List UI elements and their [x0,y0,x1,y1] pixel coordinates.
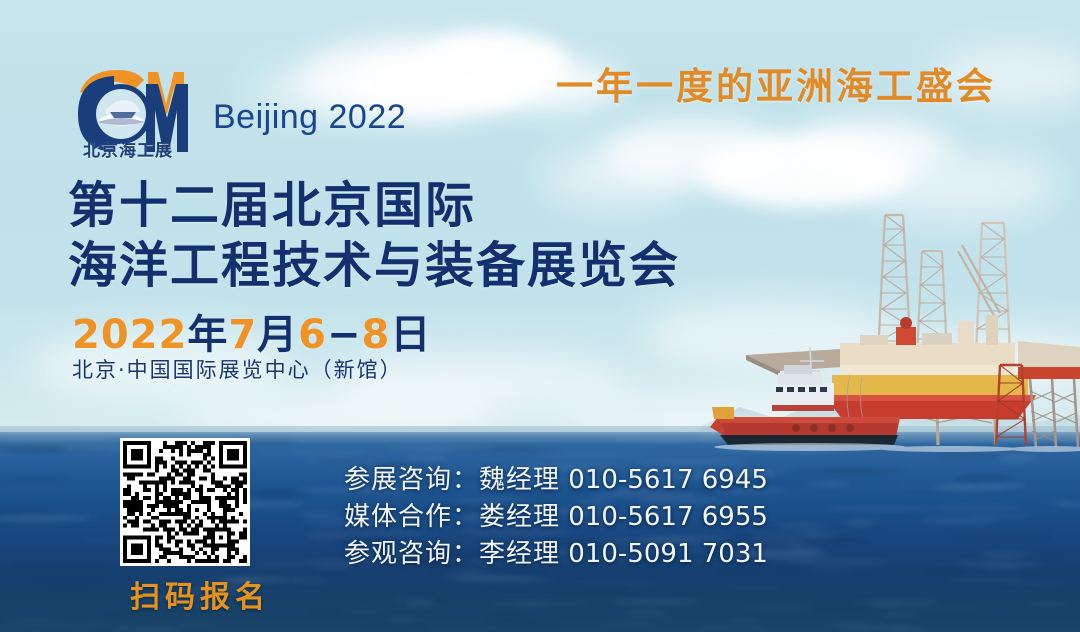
headline-line-2: 海洋工程技术与装备展览会 [68,236,680,296]
wave-streak [249,563,319,566]
wave-streak [849,598,918,602]
contact-row: 参展咨询：魏经理 010-5617 6945 [344,462,768,499]
contact-label: 参展咨询 [344,465,452,495]
date-day-unit: 日 [390,312,431,358]
wave-streak [999,581,1066,584]
wave-streak [27,580,104,586]
headline-line-1: 第十二届北京国际 [68,176,680,236]
contact-label: 媒体合作 [344,502,452,532]
wave-streak [980,551,1031,558]
wave-streak [0,477,71,481]
tagline: 一年一度的亚洲海工盛会 [556,56,996,110]
event-venue: 北京·中国国际展览中心（新馆） [72,354,403,384]
wave-streak [870,602,900,606]
wave-streak [243,490,306,496]
wave-streak [845,519,875,526]
date-dash: − [327,312,362,358]
date-month: 7 [228,312,257,358]
wave-streak [534,454,649,458]
wave-streak [723,586,783,589]
contact-label: 参观咨询 [344,539,452,569]
wave-streak [546,588,628,591]
wave-streak [696,627,769,631]
wave-streak [403,595,449,601]
wave-streak [1046,501,1072,504]
offshore-rig-and-vessel-illustration [700,195,1080,485]
contact-phone[interactable]: 010-5091 7031 [560,539,768,569]
wave-streak [14,564,105,568]
wave-streak [112,627,177,632]
wave-streak [886,627,926,632]
contact-name: 李经理 [479,539,560,569]
wave-streak [0,443,118,447]
date-year: 2022 [72,312,187,358]
wave-streak [777,524,826,529]
wave-streak [600,622,651,626]
page-title: 第十二届北京国际 海洋工程技术与装备展览会 [68,176,680,296]
event-banner-poster: 北京海工展 Beijing 2022 一年一度的亚洲海工盛会 第十二届北京国际 … [0,0,1080,632]
wave-streak [298,511,340,518]
wave-streak [764,564,812,571]
registration-qr-code[interactable] [120,438,250,566]
date-day-start: 6 [298,312,327,358]
contact-row: 参观咨询：李经理 010-5091 7031 [344,536,768,573]
wave-streak [405,456,445,460]
date-day-end: 8 [362,312,391,358]
contact-name: 魏经理 [479,465,560,495]
qr-caption: 扫码报名 [110,572,290,616]
contact-separator: ： [452,465,479,495]
logo-wordmark: Beijing 2022 [213,98,406,137]
date-year-unit: 年 [187,312,228,358]
contact-separator: ： [452,502,479,532]
wave-streak [487,616,534,623]
wave-streak [921,517,997,523]
event-date: 2022年7月6−8日 [72,302,431,360]
wave-streak [293,577,328,584]
contact-row: 媒体合作：娄经理 010-5617 6955 [344,499,768,536]
wave-streak [829,621,868,628]
rig-main-deck [824,315,1036,419]
wave-streak [290,452,367,455]
qr-code-canvas[interactable] [123,441,247,563]
logo-subtitle: 北京海工展 [72,136,184,161]
date-month-unit: 月 [257,312,298,358]
contact-list: 参展咨询：魏经理 010-5617 6945媒体合作：娄经理 010-5617 … [344,462,768,573]
contact-phone[interactable]: 010-5617 6945 [560,465,768,495]
contact-separator: ： [452,539,479,569]
wave-streak [825,508,937,511]
contact-name: 娄经理 [479,502,560,532]
contact-phone[interactable]: 010-5617 6955 [560,502,768,532]
wave-streak [389,446,495,449]
wave-streak [360,626,427,629]
wave-streak [729,620,759,623]
